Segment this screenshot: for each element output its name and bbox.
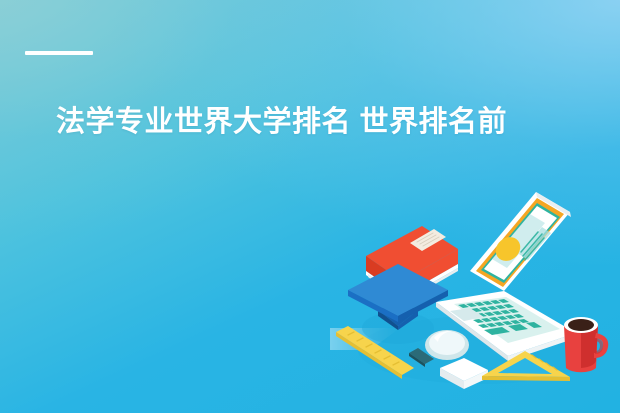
decorative-underline xyxy=(25,51,93,55)
article-cover-banner: 法学专业世界大学排名 世界排名前 xyxy=(0,0,620,413)
education-illustration xyxy=(330,178,620,413)
coffee-mug-icon xyxy=(564,317,608,372)
page-title: 法学专业世界大学排名 世界排名前 xyxy=(56,104,616,140)
